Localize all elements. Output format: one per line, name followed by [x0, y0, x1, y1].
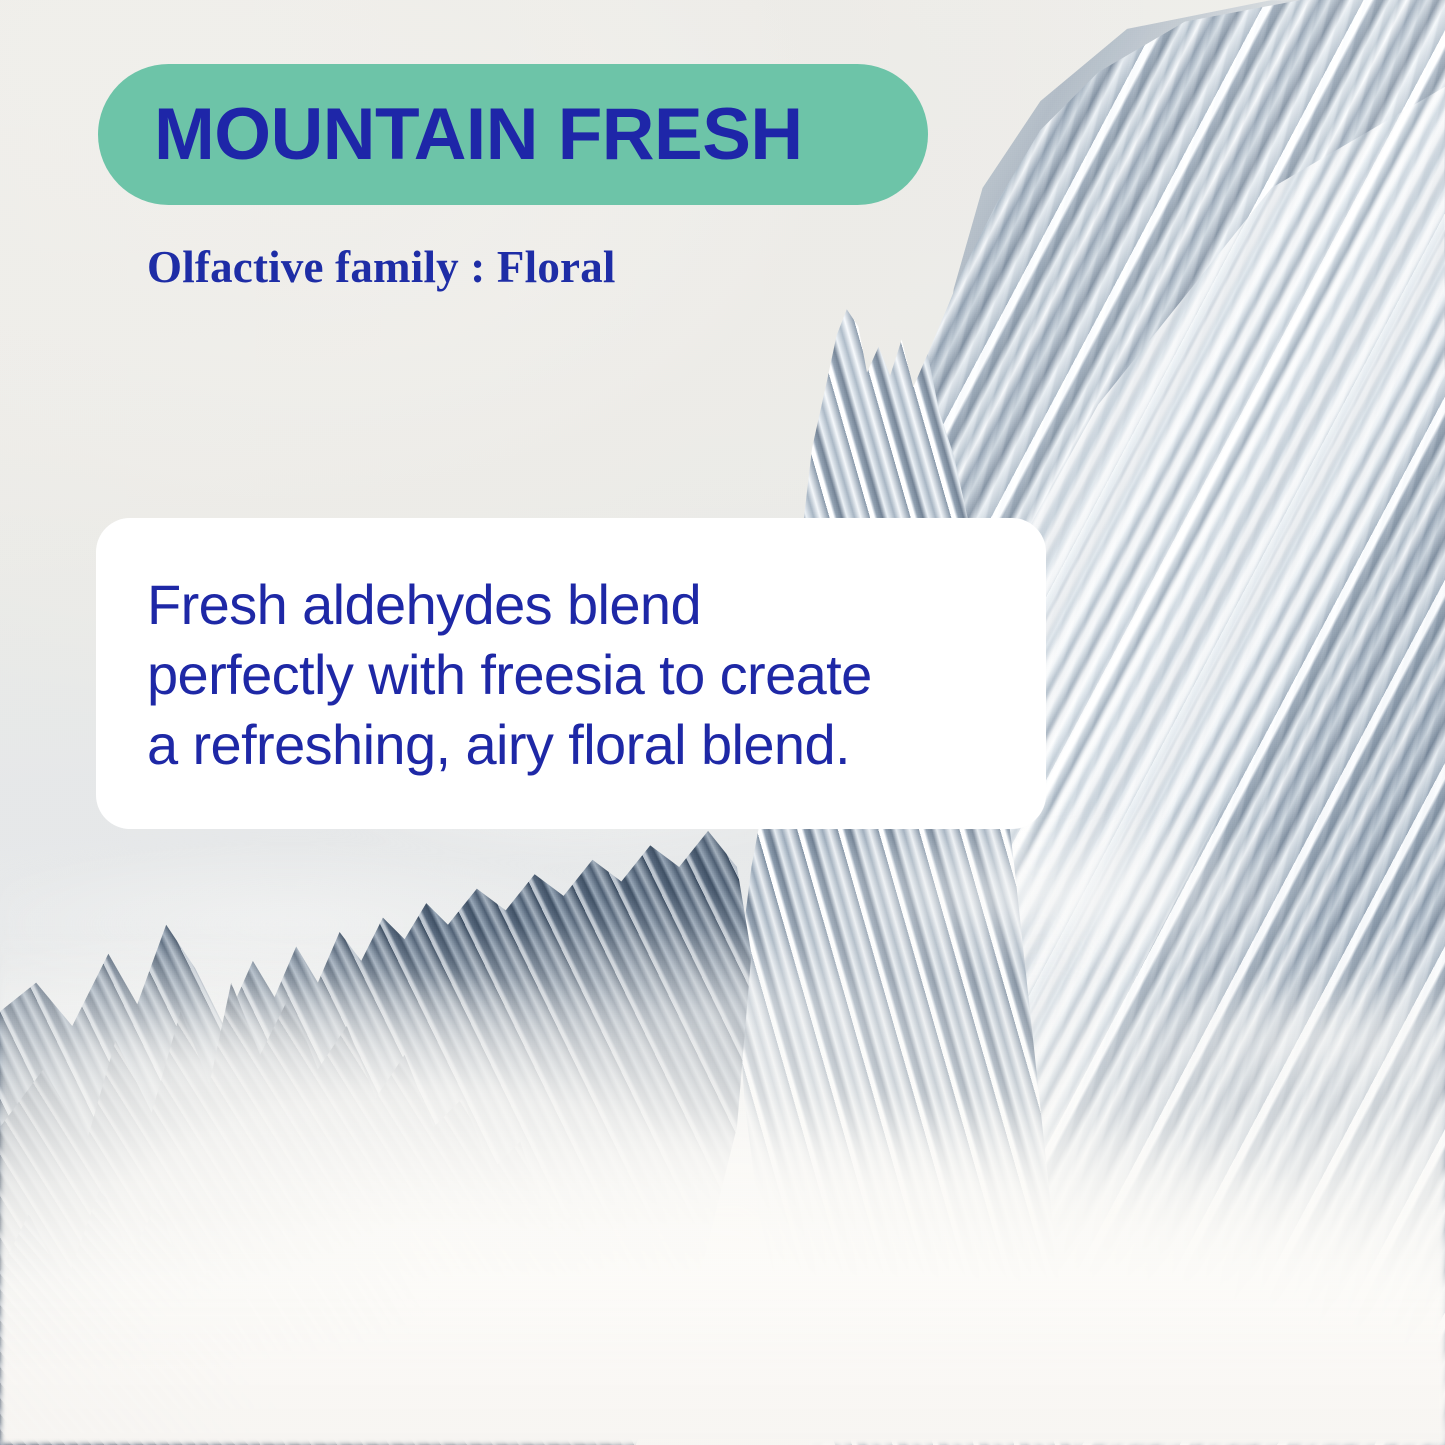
- title-badge-label: MOUNTAIN FRESH: [154, 98, 803, 171]
- description-card: Fresh aldehydes blend perfectly with fre…: [96, 518, 1046, 829]
- product-fragrance-poster: MOUNTAIN FRESH Olfactive family : Floral…: [0, 0, 1445, 1445]
- description-text: Fresh aldehydes blend perfectly with fre…: [147, 570, 1006, 780]
- olfactive-family-subtitle: Olfactive family : Floral: [147, 243, 616, 293]
- title-badge: MOUNTAIN FRESH: [98, 64, 928, 205]
